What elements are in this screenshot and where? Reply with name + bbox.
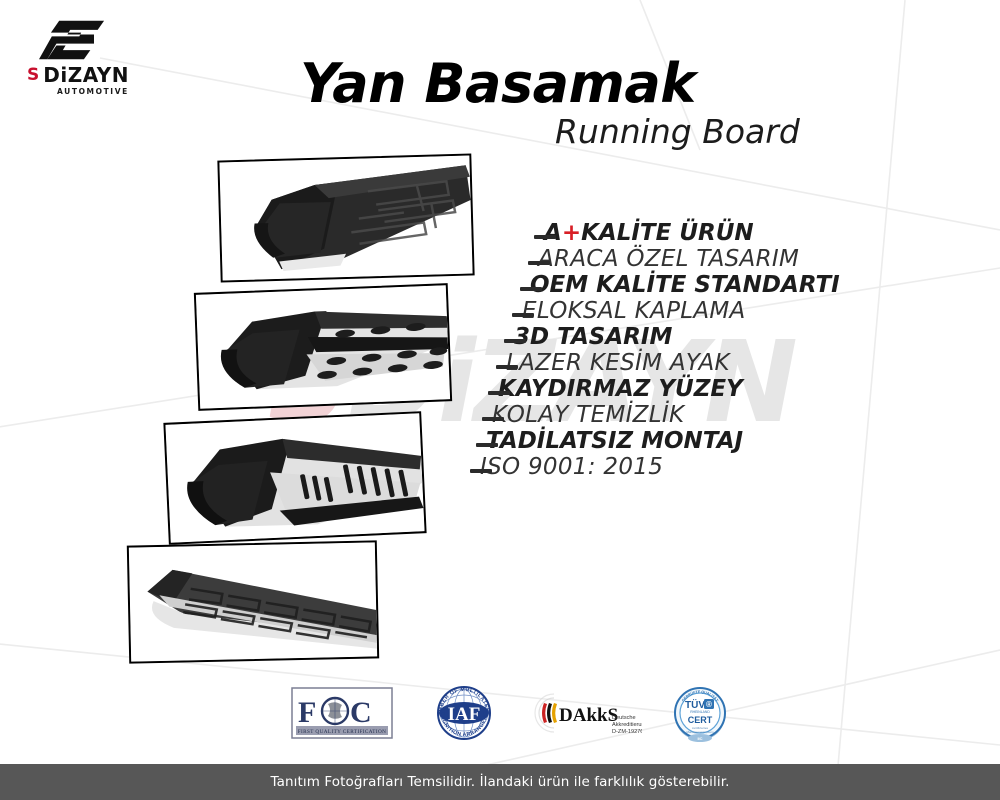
feature-label: ELOKSAL KAPLAMA <box>522 300 746 323</box>
svg-text:C: C <box>350 696 372 729</box>
brand-initial: S <box>27 67 38 84</box>
svg-text:DAkkS: DAkkS <box>559 705 618 726</box>
svg-text:Managementsystem: Managementsystem <box>686 730 714 734</box>
svg-text:IIC: IIC <box>697 736 702 741</box>
brand-tagline: AUTOMOTIVE <box>57 87 155 96</box>
feature-label: A+KALİTE ÜRÜN <box>544 222 754 245</box>
feature-label: LAZER KESİM AYAK <box>506 352 730 375</box>
svg-text:IAF: IAF <box>448 704 481 725</box>
feature-item: 3D TASARIM <box>470 326 900 349</box>
tuv-cert-seal: GEPRÜFTE QUALITÄT TÜV ® RHEINLAND CERT z… <box>668 683 732 743</box>
svg-text:RHEINLAND: RHEINLAND <box>690 710 710 714</box>
dakks-logo: DAkkS Deutsche Akkreditierungsstelle D-Z… <box>534 687 642 739</box>
page-title: Yan Basamak <box>300 52 696 115</box>
feature-item: A+KALİTE ÜRÜN <box>470 222 900 245</box>
certification-logos: F C FIRST QUALITY CERTIFICATION IAF MEM <box>290 683 732 743</box>
iaf-logo: IAF MEMBER OF MULTILATERAL RECOGNITION A… <box>420 685 508 741</box>
gallery-item-1[interactable] <box>217 153 474 282</box>
feature-item: ELOKSAL KAPLAMA <box>470 300 900 323</box>
gallery-item-2[interactable] <box>194 283 452 411</box>
feature-label: KAYDIRMAZ YÜZEY <box>498 378 743 401</box>
feature-label: OEM KALİTE STANDARTI <box>530 274 840 297</box>
fqc-logo: F C FIRST QUALITY CERTIFICATION <box>290 686 394 740</box>
svg-text:CERT: CERT <box>688 715 713 725</box>
product-banner: SDiZAYN S DiZAYN AUTOMOTIVE Yan Basamak … <box>0 0 1000 800</box>
svg-text:®: ® <box>706 700 712 709</box>
feature-item: LAZER KESİM AYAK <box>470 352 900 375</box>
feature-list: A+KALİTE ÜRÜN ARACA ÖZEL TASARIM OEM KAL… <box>470 222 900 482</box>
svg-text:D-ZM-19276-01-00: D-ZM-19276-01-00 <box>612 729 642 735</box>
feature-label: TADİLATSIZ MONTAJ <box>486 430 743 453</box>
feature-item: ISO 9001: 2015 <box>470 456 900 479</box>
feature-label: KOLAY TEMİZLİK <box>492 404 684 427</box>
feature-label: ARACA ÖZEL TASARIM <box>538 248 799 271</box>
footer-bar: Tanıtım Fotoğrafları Temsilidir. İlandak… <box>0 764 1000 800</box>
feature-item: TADİLATSIZ MONTAJ <box>470 430 900 453</box>
gallery-item-4[interactable] <box>127 540 379 663</box>
brand-name: DiZAYN <box>43 65 129 85</box>
brand-logo: S DiZAYN AUTOMOTIVE <box>25 18 155 96</box>
feature-label: ISO 9001: 2015 <box>480 456 663 479</box>
feature-label: 3D TASARIM <box>514 326 672 349</box>
feature-item: OEM KALİTE STANDARTI <box>470 274 900 297</box>
feature-item: ARACA ÖZEL TASARIM <box>470 248 900 271</box>
footer-disclaimer: Tanıtım Fotoğrafları Temsilidir. İlandak… <box>270 774 729 790</box>
feature-item: KOLAY TEMİZLİK <box>470 404 900 427</box>
page-subtitle: Running Board <box>555 112 800 151</box>
svg-text:Akkreditierungsstelle: Akkreditierungsstelle <box>612 722 642 728</box>
feature-item: KAYDIRMAZ YÜZEY <box>470 378 900 401</box>
svg-text:F: F <box>298 696 316 729</box>
brand-wordmark: S DiZAYN <box>27 65 155 85</box>
gallery-item-3[interactable] <box>163 411 426 545</box>
accent-plus: + <box>562 220 581 246</box>
svg-text:FIRST QUALITY CERTIFICATION: FIRST QUALITY CERTIFICATION <box>298 729 387 735</box>
s-monogram-icon <box>35 18 109 62</box>
svg-text:Deutsche: Deutsche <box>612 715 636 721</box>
